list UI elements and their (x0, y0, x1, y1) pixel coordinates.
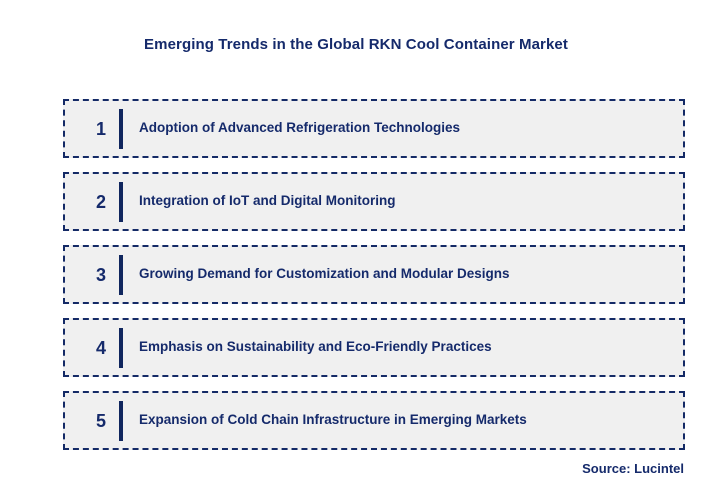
infographic-page: Emerging Trends in the Global RKN Cool C… (0, 0, 712, 501)
list-item[interactable]: 4 Emphasis on Sustainability and Eco-Fri… (63, 318, 685, 377)
trend-number: 3 (83, 266, 119, 284)
trend-number: 5 (83, 412, 119, 430)
accent-bar (119, 401, 123, 441)
trend-list: 1 Adoption of Advanced Refrigeration Tec… (63, 99, 685, 450)
accent-bar (119, 109, 123, 149)
page-title: Emerging Trends in the Global RKN Cool C… (0, 36, 712, 53)
trend-number: 2 (83, 193, 119, 211)
trend-label: Adoption of Advanced Refrigeration Techn… (139, 120, 460, 136)
list-item[interactable]: 2 Integration of IoT and Digital Monitor… (63, 172, 685, 231)
trend-label: Expansion of Cold Chain Infrastructure i… (139, 412, 527, 428)
trend-label: Growing Demand for Customization and Mod… (139, 266, 510, 282)
trend-label: Integration of IoT and Digital Monitorin… (139, 193, 395, 209)
source-attribution: Source: Lucintel (582, 461, 684, 476)
list-item[interactable]: 5 Expansion of Cold Chain Infrastructure… (63, 391, 685, 450)
trend-label: Emphasis on Sustainability and Eco-Frien… (139, 339, 492, 355)
list-item[interactable]: 1 Adoption of Advanced Refrigeration Tec… (63, 99, 685, 158)
accent-bar (119, 182, 123, 222)
accent-bar (119, 255, 123, 295)
list-item[interactable]: 3 Growing Demand for Customization and M… (63, 245, 685, 304)
trend-number: 1 (83, 120, 119, 138)
trend-number: 4 (83, 339, 119, 357)
accent-bar (119, 328, 123, 368)
